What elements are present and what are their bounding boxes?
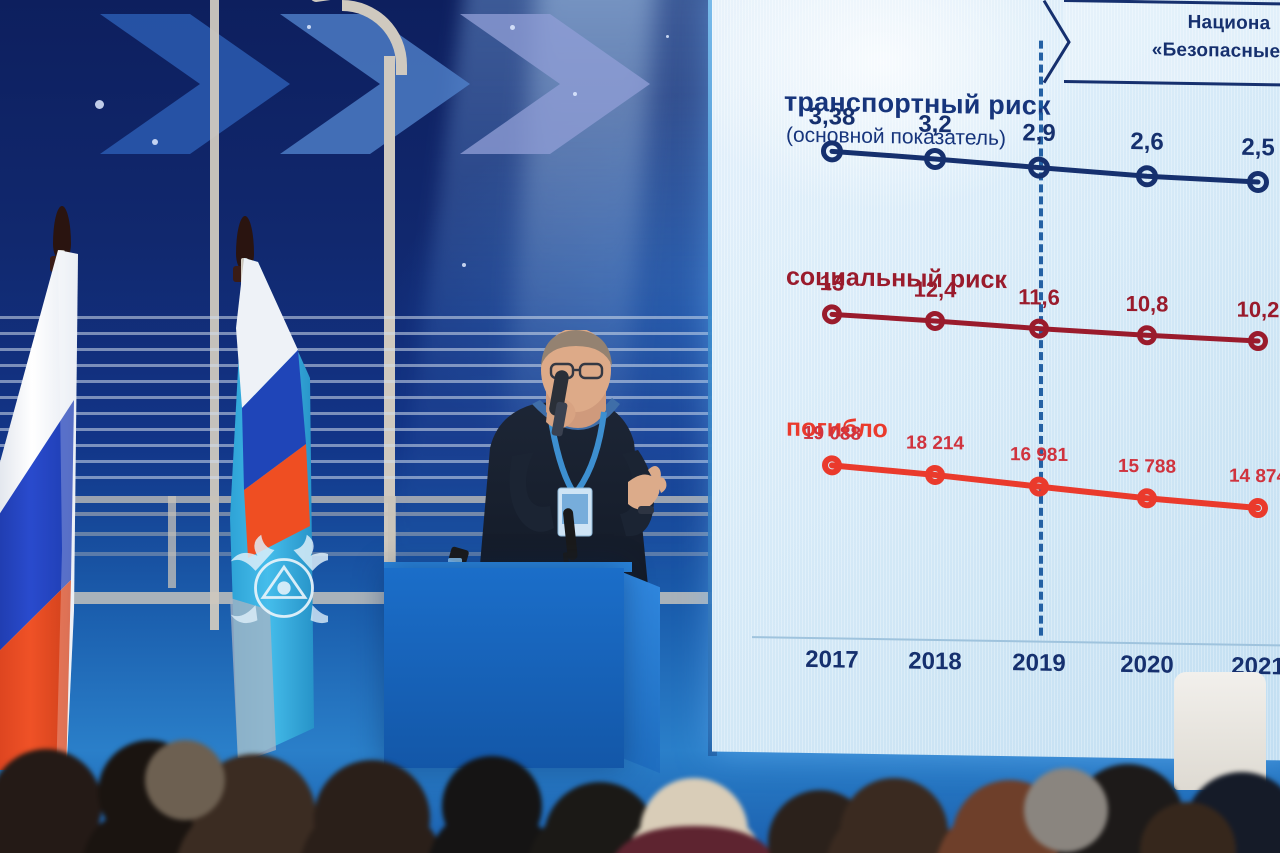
- data-point-marker: [1029, 476, 1049, 496]
- data-point-marker: [821, 140, 843, 162]
- data-point-label: 10,2: [1237, 297, 1280, 324]
- data-point-marker: [1136, 165, 1158, 187]
- line-chart: 3,383,22,92,62,51312,411,610,810,219 088…: [712, 0, 1280, 699]
- data-point-label: 3,38: [809, 103, 856, 132]
- data-point-label: 15 788: [1118, 456, 1176, 479]
- data-point-label: 2,5: [1241, 134, 1274, 163]
- data-point-marker: [1248, 331, 1268, 351]
- data-point-marker: [1248, 498, 1268, 518]
- screenshot-stage: Национа «Безопасные ка транспортный риск…: [0, 0, 1280, 853]
- data-point-label: 2,9: [1022, 119, 1055, 148]
- backdrop-star-icon: [307, 25, 311, 29]
- data-point-label: 18 214: [906, 432, 964, 455]
- data-point-label: 16 981: [1010, 444, 1068, 467]
- data-point-marker: [1137, 488, 1157, 508]
- data-point-marker: [925, 465, 945, 485]
- data-point-label: 2,6: [1130, 128, 1163, 157]
- data-point-marker: [1137, 325, 1157, 345]
- data-point-label: 19 088: [803, 423, 861, 446]
- data-point-label: 14 874: [1229, 466, 1280, 489]
- backdrop-star-icon: [462, 263, 466, 267]
- backdrop-star-icon: [152, 139, 158, 145]
- slide-content: Национа «Безопасные ка транспортный риск…: [712, 0, 1280, 761]
- data-point-marker: [924, 148, 946, 170]
- backdrop-star-icon: [666, 35, 669, 38]
- data-point-marker: [822, 304, 842, 324]
- data-point-label: 13: [820, 270, 844, 296]
- audience: [0, 660, 1280, 853]
- chart-series-lines: [712, 0, 1280, 699]
- data-point-label: 10,8: [1126, 291, 1169, 318]
- data-point-marker: [822, 455, 842, 475]
- data-point-marker: [1029, 318, 1049, 338]
- data-point-marker: [1247, 171, 1269, 193]
- backdrop-star-icon: [573, 92, 577, 96]
- presentation-screen: Национа «Безопасные ка транспортный риск…: [712, 0, 1280, 761]
- data-point-label: 3,2: [918, 111, 951, 140]
- backdrop-star-icon: [510, 25, 515, 30]
- data-point-marker: [1028, 156, 1050, 178]
- data-point-label: 12,4: [914, 277, 957, 304]
- data-point-label: 11,6: [1018, 284, 1060, 311]
- data-point-marker: [925, 311, 945, 331]
- backdrop-star-icon: [95, 100, 104, 109]
